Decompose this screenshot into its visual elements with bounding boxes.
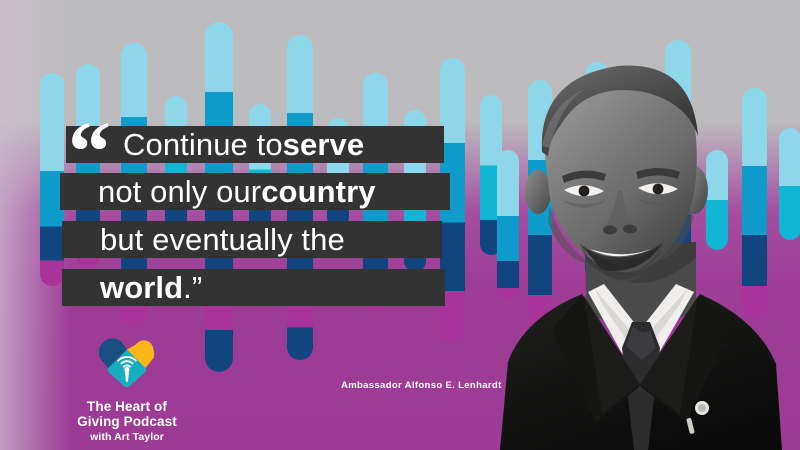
quote-line: world.”	[62, 269, 445, 306]
quote-segment: country	[261, 174, 375, 210]
quote-line: Continue to serve	[66, 126, 444, 163]
quote-segment: world	[100, 270, 183, 306]
logo-line-3: with Art Taylor	[47, 430, 207, 445]
quote-line: but eventually the	[62, 221, 442, 258]
open-quote-mark: “	[68, 108, 107, 194]
quote-segment: but eventually the	[100, 222, 345, 258]
quote-segment: Continue to	[123, 127, 283, 163]
quote-line: not only our country	[60, 173, 450, 210]
quote-segment: .”	[183, 270, 202, 306]
quote-segment: serve	[283, 127, 365, 163]
quote-segment: not only our	[98, 174, 261, 210]
logo-line-1: The Heart of	[47, 399, 207, 414]
quote-card: Continue to servenot only our countrybut…	[0, 0, 800, 450]
portrait-image	[490, 30, 790, 450]
attribution-name: Ambassador Alfonso E. Lenhardt	[341, 380, 502, 391]
heart-podcast-icon	[47, 336, 207, 394]
equalizer-bar	[249, 104, 271, 240]
logo-line-2: Giving Podcast	[47, 414, 207, 429]
podcast-logo[interactable]: The Heart of Giving Podcast with Art Tay…	[47, 336, 207, 445]
